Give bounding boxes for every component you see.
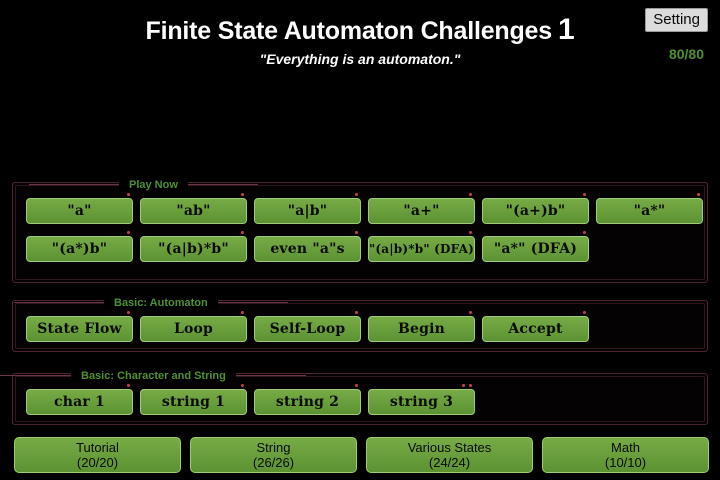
challenge-star-dot-icon (697, 193, 700, 196)
category-progress: (26/26) (253, 455, 294, 470)
challenge-button[interactable]: "a+" (368, 198, 475, 224)
challenge-button[interactable]: "(a+)b" (482, 198, 589, 224)
game-screen: Finite State Automaton Challenges1 "Ever… (0, 0, 720, 480)
challenge-button[interactable]: "a*" (DFA) (482, 236, 589, 262)
challenge-button[interactable]: Accept (482, 316, 589, 342)
section-body: Basic: AutomatonState FlowLoopSelf-LoopB… (15, 303, 705, 349)
challenge-star-dot-icon (127, 384, 130, 387)
challenge-star-dot-icon (241, 311, 244, 314)
setting-button[interactable]: Setting (645, 8, 708, 32)
challenge-button[interactable]: Self-Loop (254, 316, 361, 342)
challenge-star-dot-icon (127, 231, 130, 234)
challenge-button[interactable]: "(a|b)*b" (140, 236, 247, 262)
challenge-button[interactable]: "ab" (140, 198, 247, 224)
challenge-star-dot-icon (355, 193, 358, 196)
category-progress: (24/24) (429, 455, 470, 470)
section-header-basic-character-and-string: Basic: Character and String (71, 368, 236, 383)
page-title: Finite State Automaton Challenges1 (0, 13, 720, 47)
section-play-now: Play Now"a""ab""a|b""a+""(a+)b""a*""(a*)… (12, 182, 708, 283)
score-counter: 80/80 (669, 46, 704, 62)
category-button-various-states[interactable]: Various States(24/24) (366, 437, 533, 473)
section-header-rule-left (0, 375, 71, 376)
challenge-star-dot-icon (241, 193, 244, 196)
challenge-button[interactable]: string 3 (368, 389, 475, 415)
section-body: Basic: Character and Stringchar 1string … (15, 376, 705, 422)
section-title: Play Now (119, 179, 188, 191)
challenge-star-dot-icon (583, 311, 586, 314)
section-title: Basic: Automaton (104, 297, 218, 309)
challenge-button[interactable]: string 1 (140, 389, 247, 415)
section-body: Play Now"a""ab""a|b""a+""(a+)b""a*""(a*)… (15, 185, 705, 280)
section-basic-character-and-string: Basic: Character and Stringchar 1string … (12, 373, 708, 425)
section-header-rule-right (218, 302, 288, 303)
challenge-button[interactable]: string 2 (254, 389, 361, 415)
challenge-star-dot-icon (583, 193, 586, 196)
challenge-button[interactable]: even "a"s (254, 236, 361, 262)
challenge-star-dot-icon (127, 193, 130, 196)
section-header-rule-left (29, 184, 119, 185)
challenge-button[interactable]: "(a|b)*b" (DFA) (368, 236, 475, 262)
tagline: "Everything is an automaton." (0, 51, 720, 67)
challenge-star-dot-icon (241, 384, 244, 387)
category-label: Tutorial (76, 440, 119, 455)
page-title-number: 1 (558, 13, 575, 46)
category-progress: (20/20) (77, 455, 118, 470)
section-header-rule-right (236, 375, 306, 376)
challenge-button[interactable]: Begin (368, 316, 475, 342)
challenge-button[interactable]: "a*" (596, 198, 703, 224)
category-progress: (10/10) (605, 455, 646, 470)
challenge-star-dot-icon (583, 231, 586, 234)
challenge-star-dot-icon (355, 384, 358, 387)
section-basic-automaton: Basic: AutomatonState FlowLoopSelf-LoopB… (12, 300, 708, 352)
challenge-button[interactable]: "a|b" (254, 198, 361, 224)
category-button-string[interactable]: String(26/26) (190, 437, 357, 473)
challenge-button[interactable]: "(a*)b" (26, 236, 133, 262)
challenge-star-dot-icon (469, 311, 472, 314)
challenge-button[interactable]: Loop (140, 316, 247, 342)
challenge-star-dot-icon (355, 231, 358, 234)
category-button-tutorial[interactable]: Tutorial(20/20) (14, 437, 181, 473)
category-button-math[interactable]: Math(10/10) (542, 437, 709, 473)
challenge-star-dot-icon (462, 384, 465, 387)
page-title-text: Finite State Automaton Challenges (146, 17, 552, 45)
challenge-button[interactable]: State Flow (26, 316, 133, 342)
challenge-star-dot-icon (241, 231, 244, 234)
section-header-play-now: Play Now (119, 177, 188, 192)
section-header-rule-left (14, 302, 104, 303)
challenge-button[interactable]: "a" (26, 198, 133, 224)
challenge-star-dot-icon (469, 231, 472, 234)
category-label: String (257, 440, 291, 455)
category-label: Various States (408, 440, 492, 455)
challenge-star-dot-icon (355, 311, 358, 314)
section-title: Basic: Character and String (71, 370, 236, 382)
section-header-basic-automaton: Basic: Automaton (104, 295, 218, 310)
challenge-button[interactable]: char 1 (26, 389, 133, 415)
challenge-star-dot-icon (469, 384, 472, 387)
section-header-rule-right (188, 184, 258, 185)
challenge-star-dot-icon (127, 311, 130, 314)
challenge-star-dot-icon (469, 193, 472, 196)
category-label: Math (611, 440, 640, 455)
